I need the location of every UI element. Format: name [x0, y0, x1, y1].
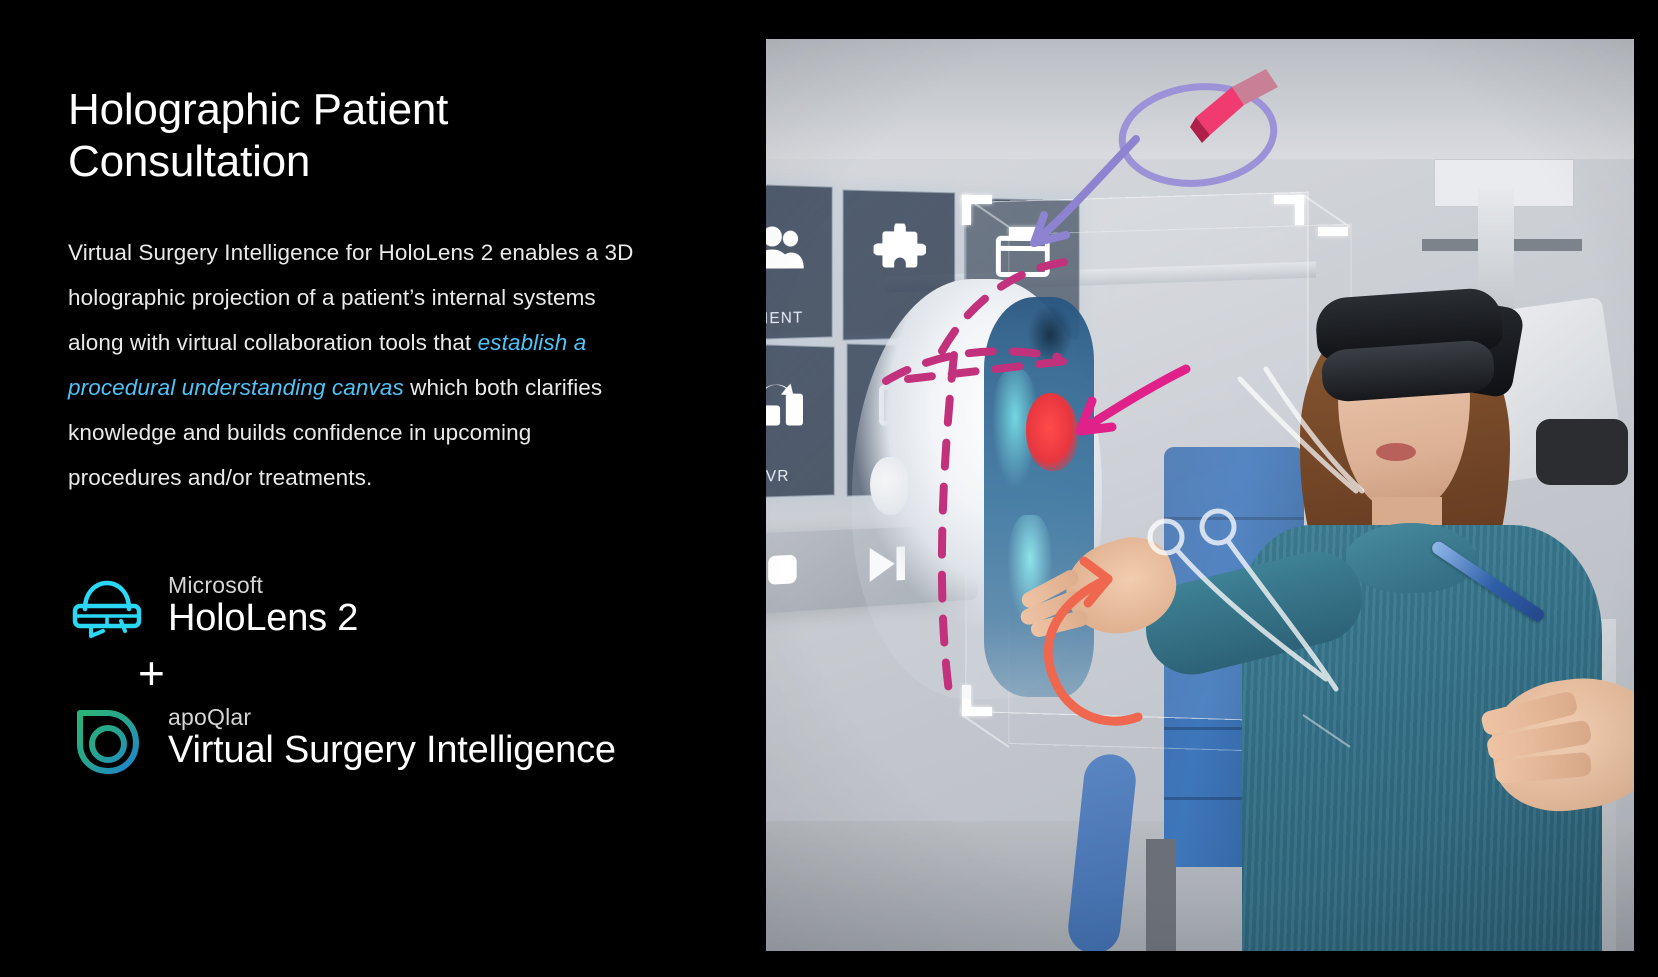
left-content-column: Holographic Patient Consultation Virtual… — [68, 84, 688, 500]
body-paragraph: Virtual Surgery Intelligence for HoloLen… — [68, 230, 648, 500]
apoqlar-logo-text: apoQlar Virtual Surgery Intelligence — [168, 705, 616, 771]
page-title: Holographic Patient Consultation — [68, 84, 688, 188]
hololens-product-label: HoloLens 2 — [168, 599, 358, 639]
apoqlar-logo-row: apoQlar Virtual Surgery Intelligence — [68, 702, 708, 774]
photo-vignette — [766, 39, 1634, 951]
hololens-logo-row: Microsoft HoloLens 2 — [68, 570, 708, 642]
photo-hololens-consultation: PATIENT — [766, 39, 1634, 951]
slide-root: Holographic Patient Consultation Virtual… — [0, 0, 1658, 977]
apoqlar-brand-label: apoQlar — [168, 705, 616, 729]
hololens-headset-icon — [68, 570, 146, 642]
logo-lockup: Microsoft HoloLens 2 + — [68, 570, 708, 774]
apoqlar-product-label: Virtual Surgery Intelligence — [168, 731, 616, 771]
apoqlar-leaf-icon — [68, 702, 146, 774]
hololens-logo-text: Microsoft HoloLens 2 — [168, 573, 358, 639]
hololens-brand-label: Microsoft — [168, 573, 358, 597]
plus-separator: + — [138, 650, 178, 696]
